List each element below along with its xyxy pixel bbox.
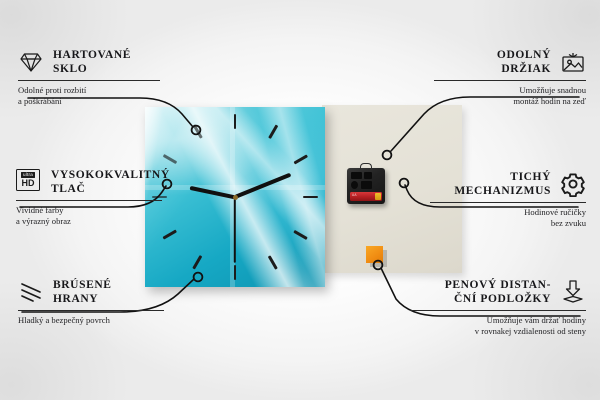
- gear-icon: [560, 171, 586, 197]
- callout-title: HARTOVANÉ SKLO: [53, 48, 131, 76]
- callout-divider: [18, 310, 164, 311]
- callout-subtitle: Umožňuje vám držať hodiny v rovnakej vzd…: [410, 315, 586, 337]
- callout-divider: [434, 80, 586, 81]
- connector-marker-tempered-glass: [192, 126, 201, 135]
- callout-divider: [16, 200, 162, 201]
- callout-tempered-glass: HARTOVANÉ SKLO Odolné proti rozbití a po…: [18, 48, 160, 107]
- callout-durable-hanger: ODOLNÝ DRŽIAK Umožňuje snadnou montáž ho…: [434, 48, 586, 107]
- callout-subtitle: Hladký a bezpečný povrch: [18, 315, 164, 326]
- infographic-canvas: AA: [0, 0, 600, 400]
- callout-silent-mechanism: TICHÝ MECHANIZMUS Hodinové ručičky bez z…: [430, 170, 586, 229]
- callout-head: PENOVÝ DISTAN- ČNÍ PODLOŽKY: [410, 278, 586, 306]
- callout-high-quality-print: ultra HD VYSOKOKVALITNÝ TLAČ Vividné far…: [16, 168, 162, 227]
- callout-subtitle: Hodinové ručičky bez zvuku: [430, 207, 586, 229]
- callout-polished-edges: BRÚSENÉ HRANY Hladký a bezpečný povrch: [18, 278, 164, 326]
- callout-divider: [410, 310, 586, 311]
- polished-edges-icon: [18, 279, 44, 305]
- callout-head: ultra HD VYSOKOKVALITNÝ TLAČ: [16, 168, 162, 196]
- callout-subtitle: Odolné proti rozbití a poškrábání: [18, 85, 160, 107]
- ultra-hd-icon: ultra HD: [16, 169, 42, 195]
- callout-head: HARTOVANÉ SKLO: [18, 48, 160, 76]
- callout-subtitle: Umožňuje snadnou montáž hodin na zeď: [434, 85, 586, 107]
- diamond-icon: [18, 49, 44, 75]
- connector-marker-polished-edges: [194, 273, 203, 282]
- callout-title: TICHÝ MECHANIZMUS: [454, 170, 551, 198]
- callout-title: VYSOKOKVALITNÝ TLAČ: [51, 168, 170, 196]
- callout-divider: [430, 202, 586, 203]
- connector-marker-durable-hanger: [383, 151, 392, 160]
- callout-title: BRÚSENÉ HRANY: [53, 278, 112, 306]
- callout-divider: [18, 80, 160, 81]
- callout-head: TICHÝ MECHANIZMUS: [430, 170, 586, 198]
- callout-title: ODOLNÝ DRŽIAK: [497, 48, 551, 76]
- callout-title: PENOVÝ DISTAN- ČNÍ PODLOŽKY: [445, 278, 551, 306]
- callout-foam-spacers: PENOVÝ DISTAN- ČNÍ PODLOŽKY Umožňuje vám…: [410, 278, 586, 337]
- ultra-hd-main-text: HD: [22, 179, 35, 188]
- callout-head: ODOLNÝ DRŽIAK: [434, 48, 586, 76]
- connector-marker-foam-spacers: [374, 261, 383, 270]
- picture-hanger-icon: [560, 49, 586, 75]
- callout-subtitle: Vividné farby a výrazný obraz: [16, 205, 162, 227]
- connector-marker-silent-mechanism: [400, 179, 409, 188]
- foam-pad-icon: [560, 279, 586, 305]
- callout-head: BRÚSENÉ HRANY: [18, 278, 164, 306]
